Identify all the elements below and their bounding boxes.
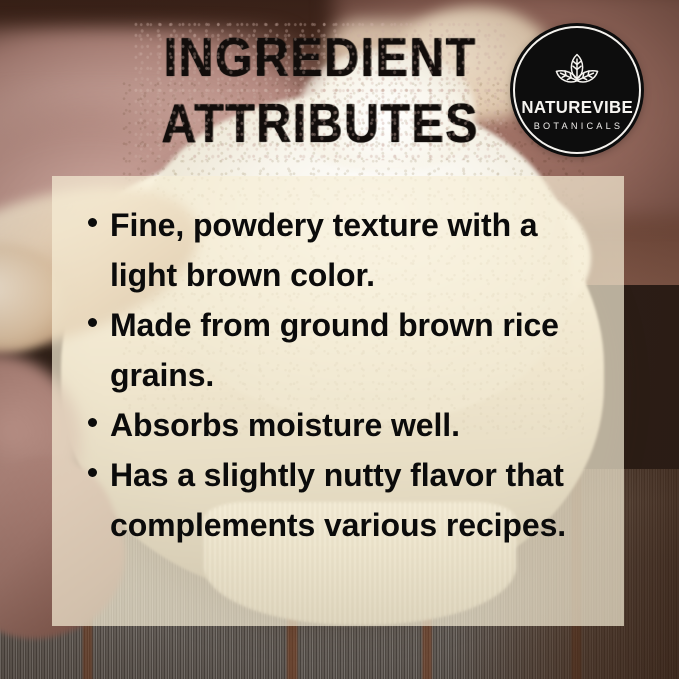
title-line-1: INGREDIENT xyxy=(138,26,502,89)
title-line-2: ATTRIBUTES xyxy=(138,92,502,155)
page-title: INGREDIENT ATTRIBUTES xyxy=(150,26,490,144)
bullet-dot-icon xyxy=(88,468,97,477)
list-item: Made from ground brown rice grains. xyxy=(88,300,608,400)
bullet-dot-icon xyxy=(88,318,97,327)
brand-tagline: BOTANICALS xyxy=(531,122,624,131)
brand-name: NATUREVIBE xyxy=(521,99,633,117)
attribute-text: Absorbs moisture well. xyxy=(110,400,460,450)
list-item: Fine, powdery texture with a light brown… xyxy=(88,200,608,300)
bullet-dot-icon xyxy=(88,218,97,227)
list-item: Has a slightly nutty flavor that complem… xyxy=(88,450,608,550)
attribute-text: Has a slightly nutty flavor that complem… xyxy=(110,450,608,550)
three-leaf-botanical-icon xyxy=(554,53,600,93)
infographic-canvas: INGREDIENT ATTRIBUTES NATUREVIBE BOTANIC… xyxy=(0,0,679,679)
bullet-dot-icon xyxy=(88,418,97,427)
list-item: Absorbs moisture well. xyxy=(88,400,608,450)
attribute-list: Fine, powdery texture with a light brown… xyxy=(88,200,608,550)
attribute-text: Made from ground brown rice grains. xyxy=(110,300,608,400)
brand-logo: NATUREVIBE BOTANICALS xyxy=(513,26,641,154)
attribute-text: Fine, powdery texture with a light brown… xyxy=(110,200,608,300)
